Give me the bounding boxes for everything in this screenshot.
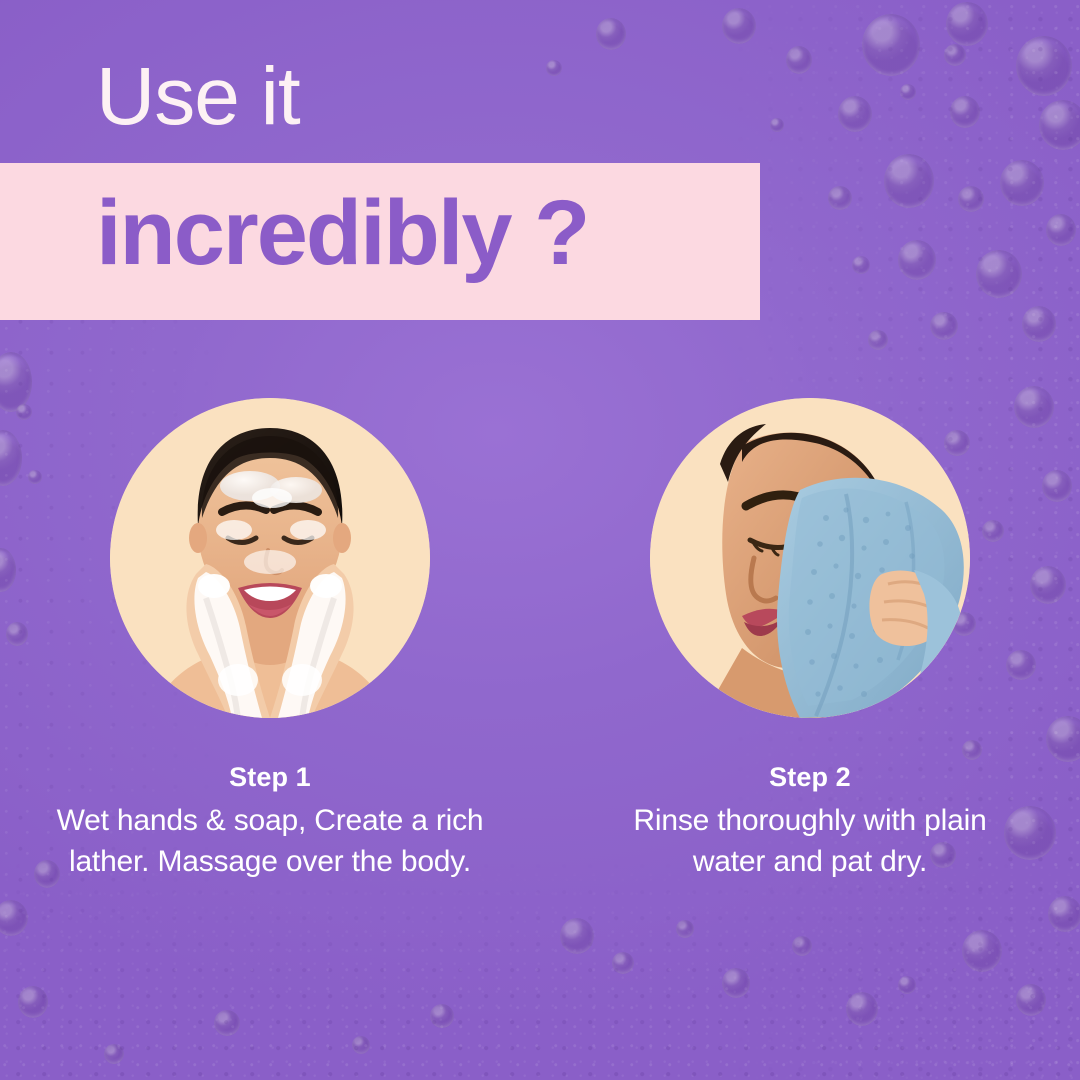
- step-title: Step 2: [769, 762, 851, 793]
- headline-line-1: Use it: [96, 56, 300, 138]
- step-item-2: Step 2 Rinse thoroughly with plain water…: [540, 398, 1080, 883]
- steps-container: Step 1 Wet hands & soap, Create a rich l…: [0, 398, 1080, 883]
- step-description: Rinse thoroughly with plain water and pa…: [595, 801, 1025, 883]
- woman-lathering-face-photo: [110, 398, 430, 718]
- headline-line-2: incredibly ?: [96, 175, 588, 293]
- step-item-1: Step 1 Wet hands & soap, Create a rich l…: [0, 398, 540, 883]
- step-description: Wet hands & soap, Create a rich lather. …: [30, 801, 510, 883]
- step-title: Step 1: [229, 762, 311, 793]
- woman-towel-dry-photo: [650, 398, 970, 718]
- skincare-instruction-poster: Use it incredibly ?: [0, 0, 1080, 1080]
